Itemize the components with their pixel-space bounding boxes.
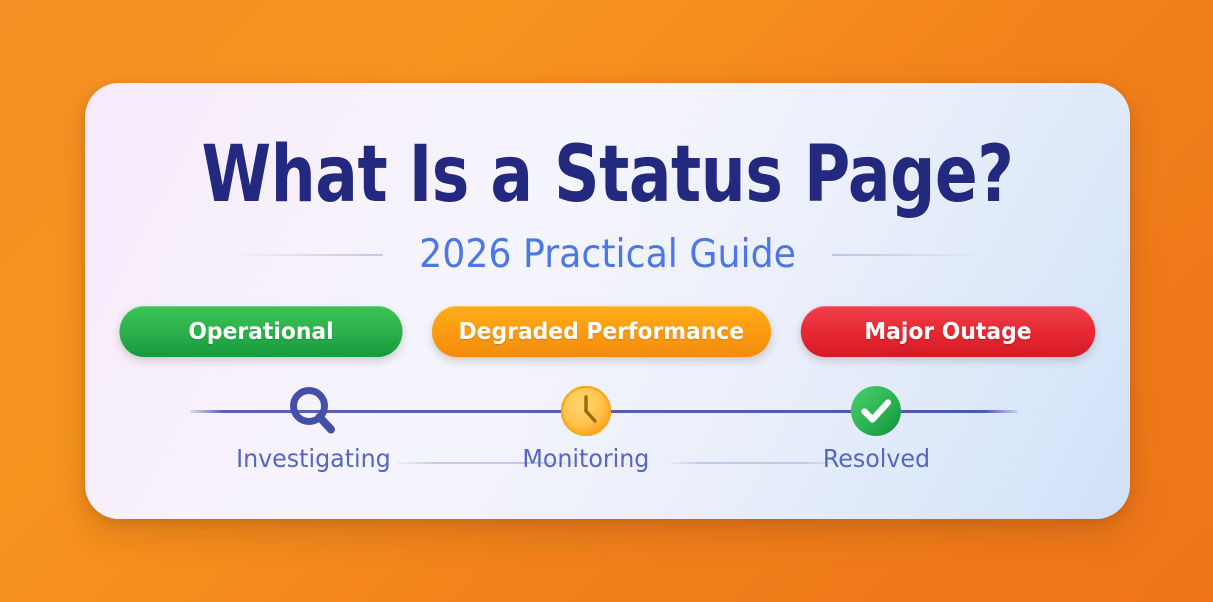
timeline-step-label-investigating: Investigating [226,444,400,473]
magnifier-icon [284,380,342,442]
check-circle-icon [850,380,902,442]
timeline-step-investigating[interactable]: Investigating [238,380,388,473]
clock-icon [561,380,611,442]
subtitle-rule-right [832,254,987,256]
status-pill-group: Operational Degraded Performance Major O… [85,306,1130,357]
subtitle-row: 2026 Practical Guide [85,235,1130,274]
subtitle-rule-left [228,254,383,256]
timeline-step-label-resolved: Resolved [813,444,939,473]
timeline-step-label-monitoring: Monitoring [513,444,659,473]
status-badge-operational[interactable]: Operational [120,306,403,357]
timeline-step-resolved[interactable]: Resolved [801,380,951,473]
timeline-step-monitoring[interactable]: Monitoring [511,380,661,473]
status-badge-major-outage[interactable]: Major Outage [801,306,1096,357]
status-badge-degraded-performance[interactable]: Degraded Performance [432,306,771,357]
incident-timeline: Investigating [190,380,1018,480]
poster-canvas: What Is a Status Page? 2026 Practical Gu… [0,0,1213,602]
page-title: What Is a Status Page? [137,136,1078,214]
status-page-card: What Is a Status Page? 2026 Practical Gu… [85,83,1130,519]
page-subtitle: 2026 Practical Guide [419,235,796,274]
timeline-nodes: Investigating [190,380,1018,480]
